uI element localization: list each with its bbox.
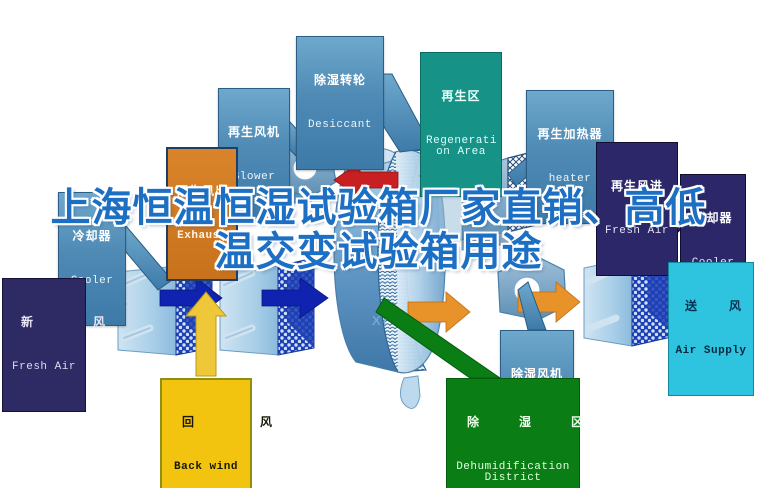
label-air-supply[interactable]: 送 风 Air Supply (668, 262, 754, 396)
label-desiccant-wheel-cn: 除湿转轮 (302, 74, 378, 87)
label-dehumidification-district[interactable]: 除 湿 区 Dehumidification District (446, 378, 580, 488)
label-exhaust-en: Exhaust (173, 231, 231, 243)
diagram-canvas: XT (0, 0, 757, 488)
label-cooler-left-cn: 冷却器 (64, 230, 120, 243)
label-back-wind-en: Back wind (168, 462, 244, 474)
label-dehumidification-district-en: Dehumidification District (453, 462, 573, 485)
label-dehumidification-district-cn: 除 湿 区 (453, 416, 573, 429)
label-regeneration-area-cn: 再生区 (426, 90, 496, 103)
label-desiccant-wheel[interactable]: 除湿转轮 Desiccant (296, 36, 384, 170)
label-regeneration-area[interactable]: 再生区 Regenerati on Area (420, 52, 502, 197)
label-back-wind-cn: 回 风 (168, 416, 244, 429)
label-exhaust[interactable]: 再生风出 Exhaust (166, 147, 238, 281)
label-exhaust-cn: 再生风出 (173, 185, 231, 198)
label-regeneration-air-inlet-cn: 再生风进 (603, 180, 671, 193)
label-regeneration-blower-cn: 再生风机 (224, 126, 284, 139)
label-back-wind[interactable]: 回 风 Back wind (160, 378, 252, 488)
label-air-supply-cn: 送 风 (675, 300, 747, 313)
label-regeneration-air-inlet-en: Fresh Air (603, 226, 671, 238)
label-desiccant-wheel-en: Desiccant (302, 120, 378, 132)
label-regeneration-air-inlet[interactable]: 再生风进 Fresh Air (596, 142, 678, 276)
label-regeneration-area-en: Regenerati on Area (426, 136, 496, 159)
label-fresh-air-cn: 新 风 (9, 316, 79, 329)
label-regeneration-heater-cn: 再生加热器 (532, 128, 608, 141)
label-fresh-air-en: Fresh Air (9, 362, 79, 374)
label-cooler-right-cn: 冷却器 (687, 212, 739, 225)
label-air-supply-en: Air Supply (675, 346, 747, 358)
label-fresh-air[interactable]: 新 风 Fresh Air (2, 278, 86, 412)
